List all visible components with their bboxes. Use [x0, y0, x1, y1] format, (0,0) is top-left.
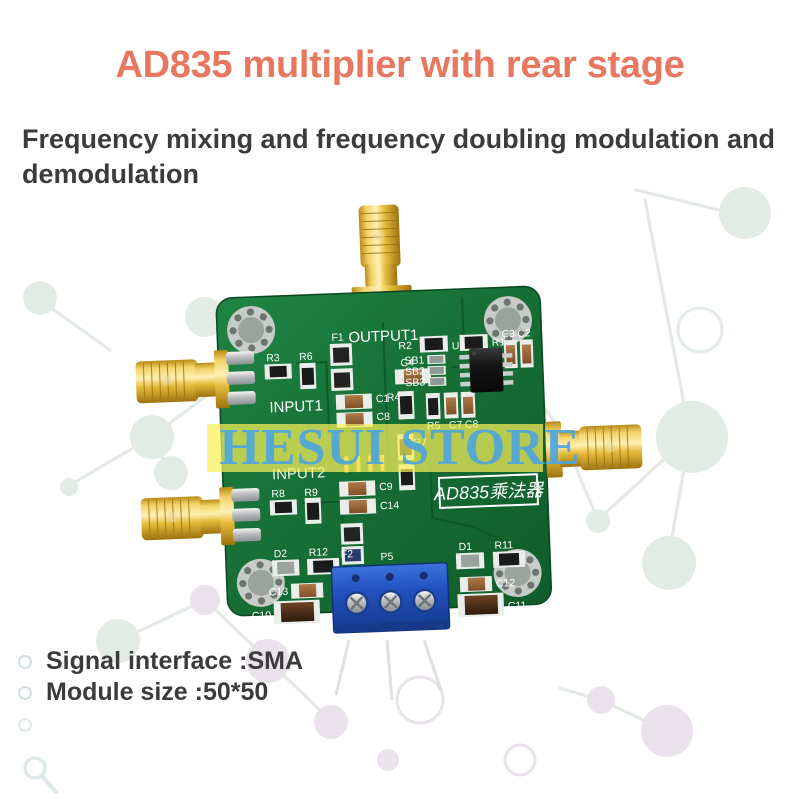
silk-part-label: AD835乘法器	[433, 480, 546, 504]
silk-f1: F1	[331, 331, 344, 343]
page-subtitle: Frequency mixing and frequency doubling …	[22, 122, 792, 191]
silk-r4: R4	[387, 391, 401, 404]
silk-r9: R9	[304, 487, 318, 500]
silk-input1: INPUT1	[269, 397, 323, 416]
silk-c1: C1	[376, 393, 390, 406]
silk-c12: C12	[496, 577, 516, 590]
bullet-circle-icon	[18, 655, 32, 669]
ic-u1	[459, 347, 514, 393]
silk-c9: C9	[379, 481, 393, 494]
silk-p5: P5	[380, 551, 393, 563]
watermark-text: HESUI STORE	[0, 420, 800, 476]
part-label-box	[439, 474, 538, 508]
silk-r12: R12	[308, 546, 328, 559]
silk-r6: R6	[299, 351, 313, 364]
silk-c13: C13	[269, 586, 289, 599]
sma-input1-pins	[226, 351, 256, 405]
silk-c14: C14	[380, 499, 400, 512]
silk-sb2: SB2	[405, 365, 425, 378]
page-title: AD835 multiplier with rear stage	[0, 44, 800, 87]
sma-connector-input2	[140, 486, 261, 549]
list-item: Signal interface :SMA	[18, 646, 303, 677]
bullet-circle-icon	[18, 718, 32, 732]
silk-sb1: SB1	[404, 354, 424, 367]
silk-d2: D2	[274, 548, 288, 561]
bullet-circle-icon	[18, 686, 32, 700]
feature-list: Signal interface :SMA Module size :50*50	[18, 646, 303, 742]
sma-connector-input1	[135, 349, 256, 412]
feature-label: Signal interface :SMA	[46, 647, 303, 676]
silk-r1: R1	[492, 336, 506, 349]
sma-connector-output	[348, 204, 412, 301]
silk-c2: C2	[517, 327, 531, 340]
silk-c4: C4	[400, 357, 414, 370]
list-item-empty	[18, 708, 303, 742]
list-item: Module size :50*50	[18, 677, 303, 708]
product-image: AD835 multiplier with rear stage Frequen…	[0, 0, 800, 800]
terminal-wires	[336, 640, 441, 700]
sma-input2-pins	[231, 488, 261, 542]
silk-d1: D1	[458, 541, 472, 554]
silk-f2: F2	[341, 548, 354, 560]
smd-components	[264, 332, 544, 624]
silk-c11: C11	[508, 600, 527, 613]
silk-u1: U1	[452, 340, 466, 353]
silk-r11: R11	[494, 539, 513, 552]
silk-sb3: SB3	[405, 376, 425, 389]
silk-output1: OUTPUT1	[348, 327, 419, 347]
sma-output-pins	[354, 297, 410, 325]
silk-r2: R2	[398, 340, 412, 353]
silk-c3: C3	[501, 328, 515, 341]
silk-r8: R8	[271, 488, 285, 501]
feature-label: Module size :50*50	[46, 678, 268, 707]
magnifier-icon	[18, 752, 64, 798]
screw-terminal-block	[331, 563, 449, 633]
silk-c10: C10	[252, 609, 272, 622]
silk-r3: R3	[266, 352, 280, 365]
